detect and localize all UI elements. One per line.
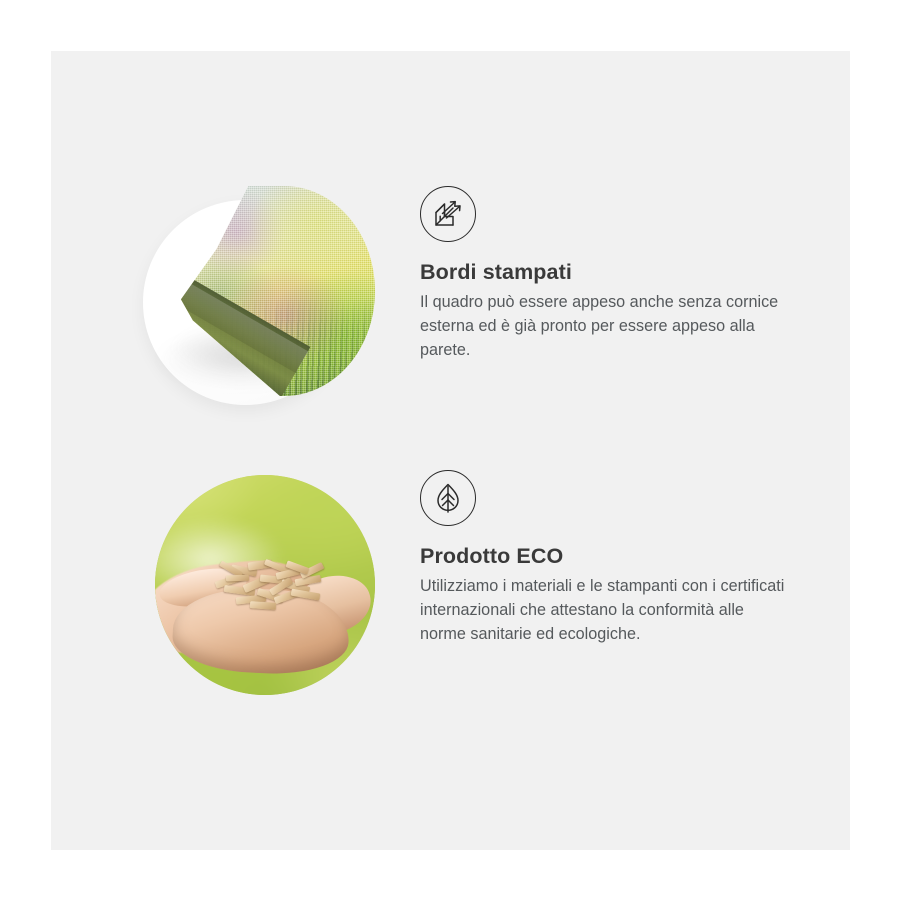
feature-bordi-stampati: Bordi stampati Il quadro può essere appe…	[125, 178, 790, 428]
canvas-corner-clip	[177, 186, 375, 396]
wood-chips-pile	[212, 559, 331, 621]
wood-chip	[250, 601, 277, 610]
feature-description: Il quadro può essere appeso anche senza …	[420, 291, 785, 362]
printed-edges-icon	[420, 186, 476, 242]
feature-title: Prodotto ECO	[420, 544, 790, 569]
canvas-corner-photo	[125, 178, 375, 428]
feature-prodotto-eco: Prodotto ECO Utilizziamo i materiali e l…	[125, 462, 790, 712]
feature-text-block: Prodotto ECO Utilizziamo i materiali e l…	[420, 462, 790, 646]
leaf-icon	[420, 470, 476, 526]
wood-chip	[295, 575, 322, 587]
wood-chip	[290, 588, 319, 600]
feature-description: Utilizziamo i materiali e le stampanti c…	[420, 575, 785, 646]
hands-with-wood-chips-photo	[125, 462, 375, 712]
eco-photo-disc	[155, 475, 375, 695]
feature-text-block: Bordi stampati Il quadro può essere appe…	[420, 178, 790, 362]
content-panel	[51, 51, 850, 850]
product-info-page: Bordi stampati Il quadro può essere appe…	[0, 0, 900, 900]
feature-title: Bordi stampati	[420, 260, 790, 285]
wood-chip	[226, 574, 249, 581]
canvas-corner-shape	[177, 186, 375, 396]
